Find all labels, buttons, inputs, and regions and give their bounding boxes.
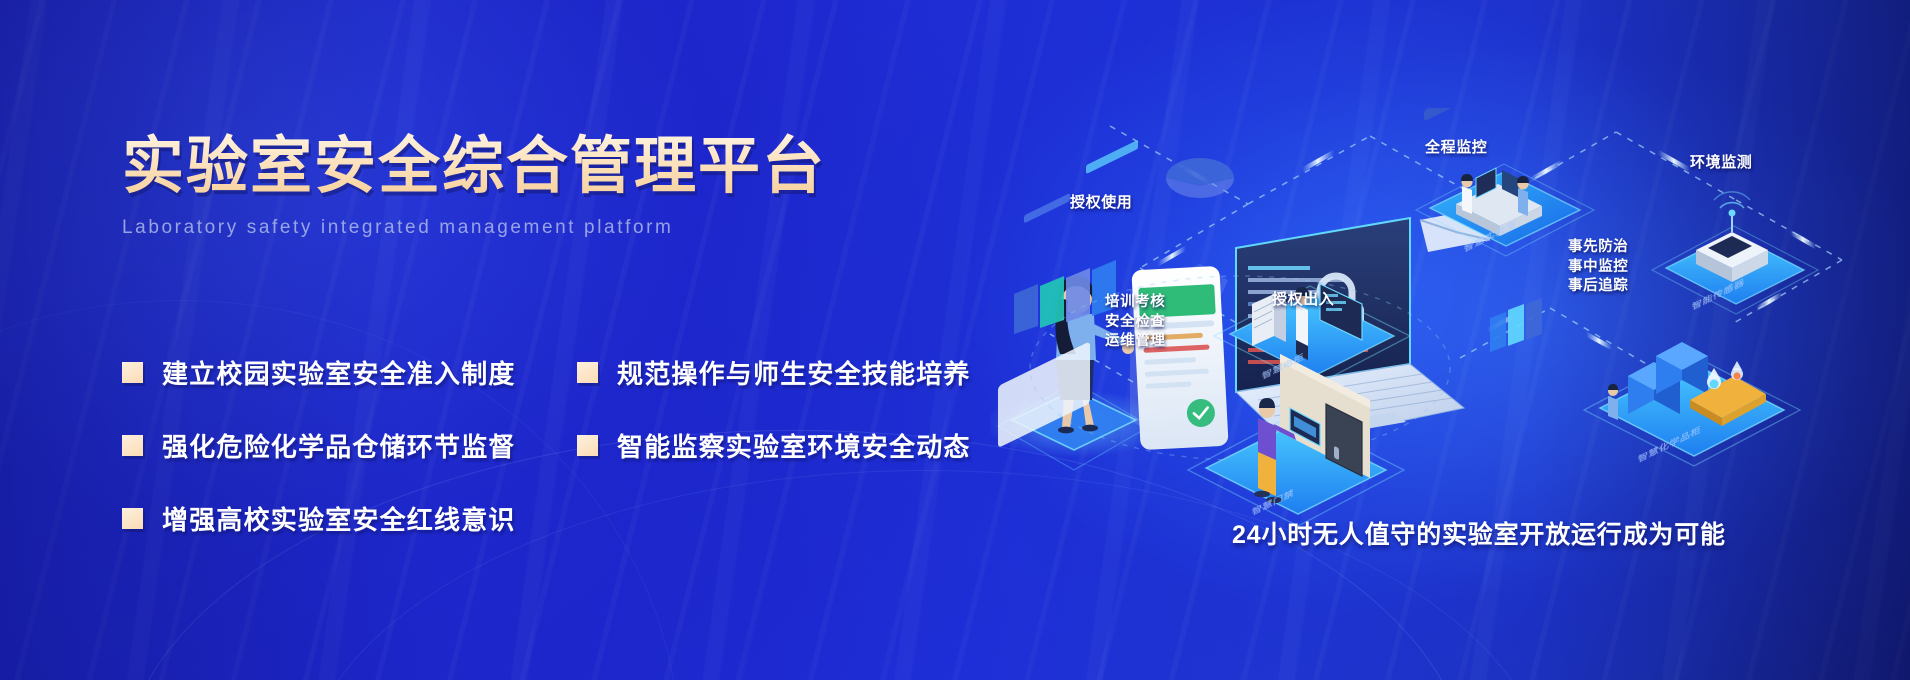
label-line: 事先防治 xyxy=(1568,238,1628,258)
feature-item-2: 规范操作与师生安全技能培养 xyxy=(577,354,1032,391)
bullet-square-icon xyxy=(577,362,598,383)
diagram-label-authorized-use: 授权使用 xyxy=(1070,193,1132,213)
feature-item-5: 增强高校实验室安全红线意识 xyxy=(122,500,577,537)
label-line: 安全检查 xyxy=(1105,313,1165,333)
diagram-label-training-inspection-ops: 培训考核 安全检查 运维管理 xyxy=(1105,293,1165,352)
feature-label: 建立校园实验室安全准入制度 xyxy=(162,354,516,391)
diagram-label-authorized-access: 授权出入 xyxy=(1272,290,1334,310)
label-line: 运维管理 xyxy=(1105,332,1165,352)
page-subtitle: Laboratory safety integrated management … xyxy=(122,217,1002,239)
bottom-caption: 24小时无人值守的实验室开放运行成为可能 xyxy=(1232,515,1726,551)
diagram-label-full-process-monitoring: 全程监控 xyxy=(1425,138,1487,158)
feature-item-1: 建立校园实验室安全准入制度 xyxy=(122,354,577,391)
node-smart-chemical-storage xyxy=(1584,342,1800,466)
bullet-square-icon xyxy=(122,508,143,529)
diagram-label-environment-monitoring: 环境监测 xyxy=(1690,153,1752,173)
feature-label: 强化危险化学品仓储环节监督 xyxy=(162,427,516,464)
label-line: 培训考核 xyxy=(1105,293,1165,313)
feature-label: 增强高校实验室安全红线意识 xyxy=(162,500,516,537)
node-smart-sensor xyxy=(1652,108,1818,314)
feature-item-3: 强化危险化学品仓储环节监督 xyxy=(122,427,577,464)
label-line: 事中监控 xyxy=(1568,258,1628,278)
feature-list: 建立校园实验室安全准入制度 规范操作与师生安全技能培养 强化危险化学品仓储环节监… xyxy=(122,336,1022,555)
banner-root: 实验室安全综合管理平台 Laboratory safety integrated… xyxy=(0,0,1910,680)
feature-label: 规范操作与师生安全技能培养 xyxy=(617,354,971,391)
bullet-square-icon xyxy=(577,435,598,456)
feature-label: 智能监察实验室环境安全动态 xyxy=(617,427,971,464)
headline-block: 实验室安全综合管理平台 Laboratory safety integrated… xyxy=(122,132,1002,239)
diagram-label-prevention-monitoring-tracing: 事先防治 事中监控 事后追踪 xyxy=(1568,238,1628,297)
bullet-square-icon xyxy=(122,435,143,456)
label-line: 事后追踪 xyxy=(1568,277,1628,297)
feature-item-4: 智能监察实验室环境安全动态 xyxy=(577,427,1032,464)
page-title: 实验室安全综合管理平台 xyxy=(122,132,1002,201)
phone-mockup xyxy=(1130,264,1229,450)
bullet-square-icon xyxy=(122,362,143,383)
